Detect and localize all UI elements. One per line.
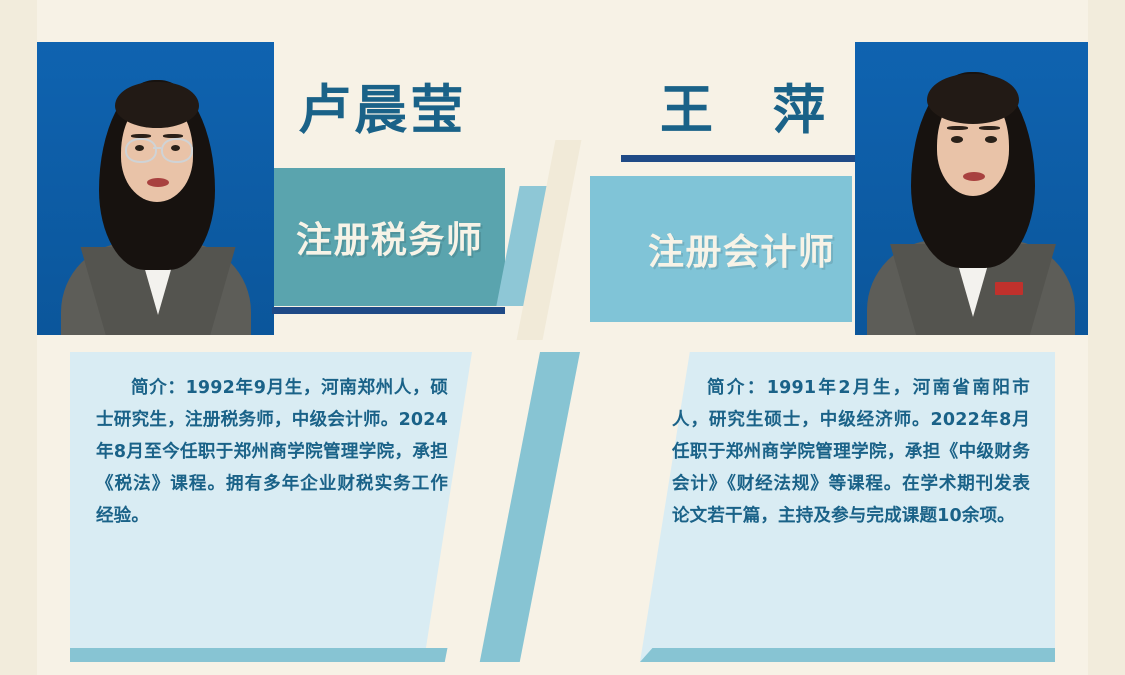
profile-name-left: 卢晨莹 [298, 68, 467, 144]
underline-right [621, 155, 855, 162]
lips [963, 172, 985, 181]
bio-text-right: 简介：1991年2月生，河南省南阳市人，研究生硕士，中级经济师。2022年8月任… [672, 372, 1030, 532]
credential-label-left: 注册税务师 [296, 211, 483, 263]
eye-right [985, 136, 997, 143]
eye-left [135, 145, 144, 151]
hair-front [927, 74, 1019, 124]
eye-right [171, 145, 180, 151]
portrait-photo-left [37, 42, 274, 335]
lips [147, 178, 169, 187]
eyebrow-left [947, 126, 968, 130]
eye-left [951, 136, 963, 143]
underline-left [272, 307, 505, 314]
lapel-pin [995, 282, 1023, 295]
portrait-photo-right [855, 42, 1088, 335]
hair-front [115, 82, 199, 128]
profile-name-right: 王 萍 [660, 68, 829, 144]
credential-badge-right: 注册会计师 [590, 176, 852, 322]
credential-label-right: 注册会计师 [648, 223, 835, 275]
bio-panel-bar-right [640, 648, 1055, 662]
eyeglass-bridge [153, 147, 161, 149]
bio-text-left: 简介：1992年9月生，河南郑州人，硕士研究生，注册税务师，中级会计师。2024… [96, 372, 448, 532]
credential-badge-left: 注册税务师 [274, 168, 505, 306]
eyebrow-right [979, 126, 1000, 130]
poster-root: 卢晨莹 注册税务师 注册会计师 王 萍 简介：1992年9月生，河南郑州人，硕士… [0, 0, 1125, 675]
bio-panel-bar-left [70, 648, 472, 662]
